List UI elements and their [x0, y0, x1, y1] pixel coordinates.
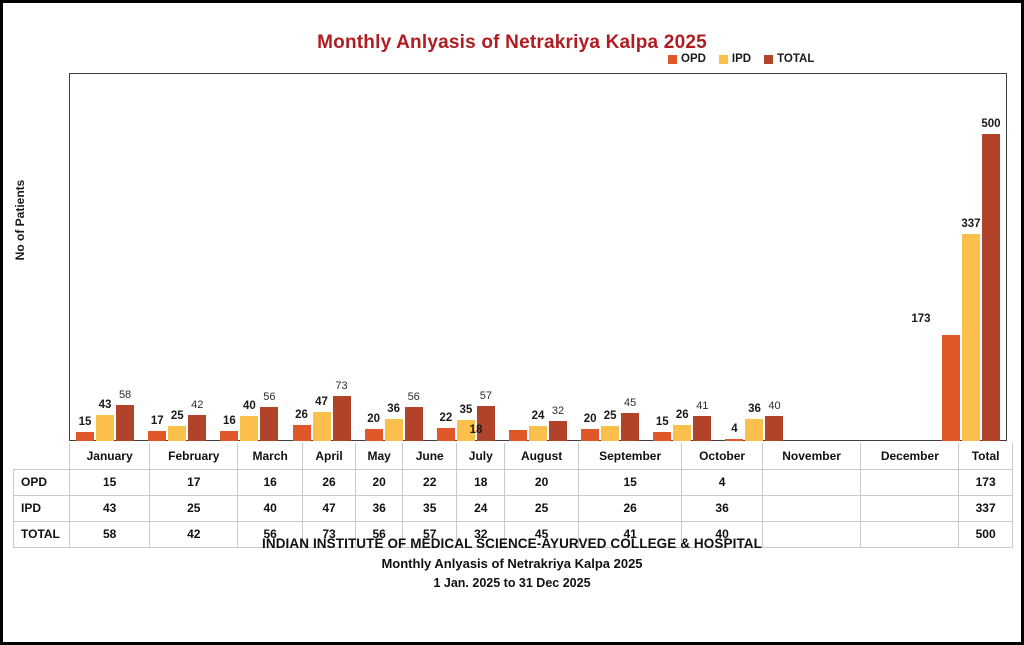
bar-opd [437, 428, 455, 441]
table-column-header: Total [959, 443, 1013, 469]
bar-value-label: 73 [335, 380, 347, 392]
bar-group: 203656 [358, 73, 430, 441]
table-cell: 26 [303, 469, 356, 495]
table-cell: 47 [303, 495, 356, 521]
bar-value-label: 58 [119, 389, 131, 401]
bar-group-bars [718, 73, 790, 441]
table-column-header: July [457, 443, 505, 469]
chart-legend: OPDIPDTOTAL [668, 53, 814, 65]
bar-value-label: 42 [191, 399, 203, 411]
bar-value-label: 26 [676, 409, 689, 421]
y-axis-title: No of Patients [13, 160, 27, 280]
bar-value-label: 20 [584, 413, 597, 425]
footer: INDIAN INSTITUTE OF MEDICAL SCIENCE-AYUR… [3, 536, 1021, 590]
bar-value-label: 47 [315, 396, 328, 408]
table-row: IPD43254047363524252636337 [14, 495, 1013, 521]
bar-opd [725, 439, 743, 441]
data-table: JanuaryFebruaryMarchAprilMayJuneJulyAugu… [13, 443, 1013, 548]
bar-opd [365, 429, 383, 441]
table-column-header: May [356, 443, 403, 469]
bar-opd [148, 431, 166, 441]
bar-value-label: 24 [532, 410, 545, 422]
bar-group-bars [213, 73, 285, 441]
legend-item: TOTAL [764, 53, 814, 65]
table-cell: 35 [403, 495, 457, 521]
bar-group-bars [430, 73, 502, 441]
bar-value-label: 500 [981, 118, 1000, 130]
legend-label: IPD [732, 53, 751, 65]
bar-group: 164056 [213, 73, 285, 441]
table-cell [762, 469, 861, 495]
bar-group: 43640 [718, 73, 790, 441]
bar-opd [76, 432, 94, 441]
bar-group-bars [646, 73, 718, 441]
bar-ipd [601, 426, 619, 441]
bar-ipd [240, 416, 258, 441]
bar-value-label: 40 [243, 400, 256, 412]
bar-group: 182432 [502, 73, 574, 441]
bar-group: 202545 [574, 73, 646, 441]
bar-value-label: 41 [696, 400, 708, 412]
chart-title: Monthly Anlyasis of Netrakriya Kalpa 202… [3, 32, 1021, 54]
bar-group-bars [791, 73, 863, 441]
table-row: OPD1517162620221820154173 [14, 469, 1013, 495]
table-column-header: December [861, 443, 959, 469]
table-cell [762, 495, 861, 521]
bar-ipd [962, 234, 980, 441]
bar-value-label: 15 [79, 416, 92, 428]
table-column-header: March [238, 443, 303, 469]
table-cell: 25 [505, 495, 578, 521]
bar-value-label: 22 [439, 412, 452, 424]
bar-value-label: 15 [656, 416, 669, 428]
bar-ipd [529, 426, 547, 441]
table-cell: 15 [578, 469, 682, 495]
bar-group: 154358 [69, 73, 141, 441]
bar-total [765, 416, 783, 441]
legend-swatch-icon [764, 55, 773, 64]
bar-opd [220, 431, 238, 441]
table-cell: 173 [959, 469, 1013, 495]
table-cell: 40 [238, 495, 303, 521]
legend-item: IPD [719, 53, 751, 65]
bar-value-label: 32 [552, 405, 564, 417]
footer-line-period: 1 Jan. 2025 to 31 Dec 2025 [3, 576, 1021, 590]
bar-ipd [385, 419, 403, 441]
legend-item: OPD [668, 53, 706, 65]
bar-value-label: 57 [480, 390, 492, 402]
bar-group [863, 73, 935, 441]
bar-opd [942, 335, 960, 441]
table-cell: 337 [959, 495, 1013, 521]
legend-swatch-icon [668, 55, 677, 64]
bar-opd [509, 430, 527, 441]
table-column-header: June [403, 443, 457, 469]
bar-ipd [673, 425, 691, 441]
table-cell: 25 [150, 495, 238, 521]
bar-ipd [313, 412, 331, 441]
bar-total [549, 421, 567, 441]
bar-group [791, 73, 863, 441]
table-cell: 15 [70, 469, 150, 495]
table-column-header: February [150, 443, 238, 469]
bar-value-label: 43 [99, 399, 112, 411]
footer-line-institute: INDIAN INSTITUTE OF MEDICAL SCIENCE-AYUR… [3, 536, 1021, 551]
table-cell: 20 [505, 469, 578, 495]
bar-group-bars [69, 73, 141, 441]
bar-value-label: 36 [387, 403, 400, 415]
bar-group: 173337500 [935, 73, 1007, 441]
bar-ipd [168, 426, 186, 441]
bar-value-label: 56 [408, 391, 420, 403]
bar-value-label: 4 [731, 423, 737, 435]
bar-opd [653, 432, 671, 441]
table-cell: 18 [457, 469, 505, 495]
table-column-header: April [303, 443, 356, 469]
bar-group: 223557 [430, 73, 502, 441]
bar-value-label: 20 [367, 413, 380, 425]
table-row-header: OPD [14, 469, 70, 495]
table-cell [861, 469, 959, 495]
footer-line-subject: Monthly Anlyasis of Netrakriya Kalpa 202… [3, 556, 1021, 571]
chart-image: Monthly Anlyasis of Netrakriya Kalpa 202… [0, 0, 1024, 645]
table-cell: 22 [403, 469, 457, 495]
bar-value-label: 36 [748, 403, 761, 415]
bar-total [621, 413, 639, 441]
table-corner-cell [14, 443, 70, 469]
bar-group: 264773 [285, 73, 357, 441]
table-cell: 17 [150, 469, 238, 495]
bar-group-bars [502, 73, 574, 441]
bar-group: 152641 [646, 73, 718, 441]
bar-value-label: 56 [263, 391, 275, 403]
table-cell: 4 [682, 469, 762, 495]
table-column-header: January [70, 443, 150, 469]
bar-value-label: 40 [768, 400, 780, 412]
bar-group-bars [574, 73, 646, 441]
table-column-header: September [578, 443, 682, 469]
bar-value-label: 18 [470, 424, 483, 436]
plot-wrap: 0100200300400500600 15435817254216405626… [69, 73, 1007, 441]
table-cell: 24 [457, 495, 505, 521]
table-cell: 16 [238, 469, 303, 495]
bar-total [260, 407, 278, 441]
bar-total [333, 396, 351, 441]
bar-value-label: 17 [151, 415, 164, 427]
bar-value-label: 26 [295, 409, 308, 421]
bar-value-label: 16 [223, 415, 236, 427]
bar-opd [581, 429, 599, 441]
legend-label: TOTAL [777, 53, 814, 65]
table-cell [861, 495, 959, 521]
bar-total [693, 416, 711, 441]
bar-value-label: 337 [961, 218, 980, 230]
bar-value-label: 25 [604, 410, 617, 422]
bar-ipd [96, 415, 114, 441]
table-cell: 43 [70, 495, 150, 521]
bar-group-bars [863, 73, 935, 441]
table-column-header: October [682, 443, 762, 469]
bar-value-label: 173 [911, 313, 930, 325]
table-column-header: November [762, 443, 861, 469]
bar-group: 172542 [141, 73, 213, 441]
bar-groups: 1543581725421640562647732036562235571824… [69, 73, 1007, 441]
table-cell: 20 [356, 469, 403, 495]
bar-group-bars [141, 73, 213, 441]
legend-label: OPD [681, 53, 706, 65]
bar-total [405, 407, 423, 441]
bar-opd [293, 425, 311, 441]
bar-value-label: 25 [171, 410, 184, 422]
bar-group-bars [358, 73, 430, 441]
table-header-row: JanuaryFebruaryMarchAprilMayJuneJulyAugu… [14, 443, 1013, 469]
table-cell: 36 [356, 495, 403, 521]
bar-ipd [745, 419, 763, 441]
legend-swatch-icon [719, 55, 728, 64]
bar-total [982, 134, 1000, 441]
table-cell: 36 [682, 495, 762, 521]
bar-total [188, 415, 206, 441]
bar-value-label: 35 [459, 404, 472, 416]
table-head: JanuaryFebruaryMarchAprilMayJuneJulyAugu… [14, 443, 1013, 469]
table-cell: 26 [578, 495, 682, 521]
bar-total [116, 405, 134, 441]
bar-value-label: 45 [624, 397, 636, 409]
table-row-header: IPD [14, 495, 70, 521]
table-column-header: August [505, 443, 578, 469]
